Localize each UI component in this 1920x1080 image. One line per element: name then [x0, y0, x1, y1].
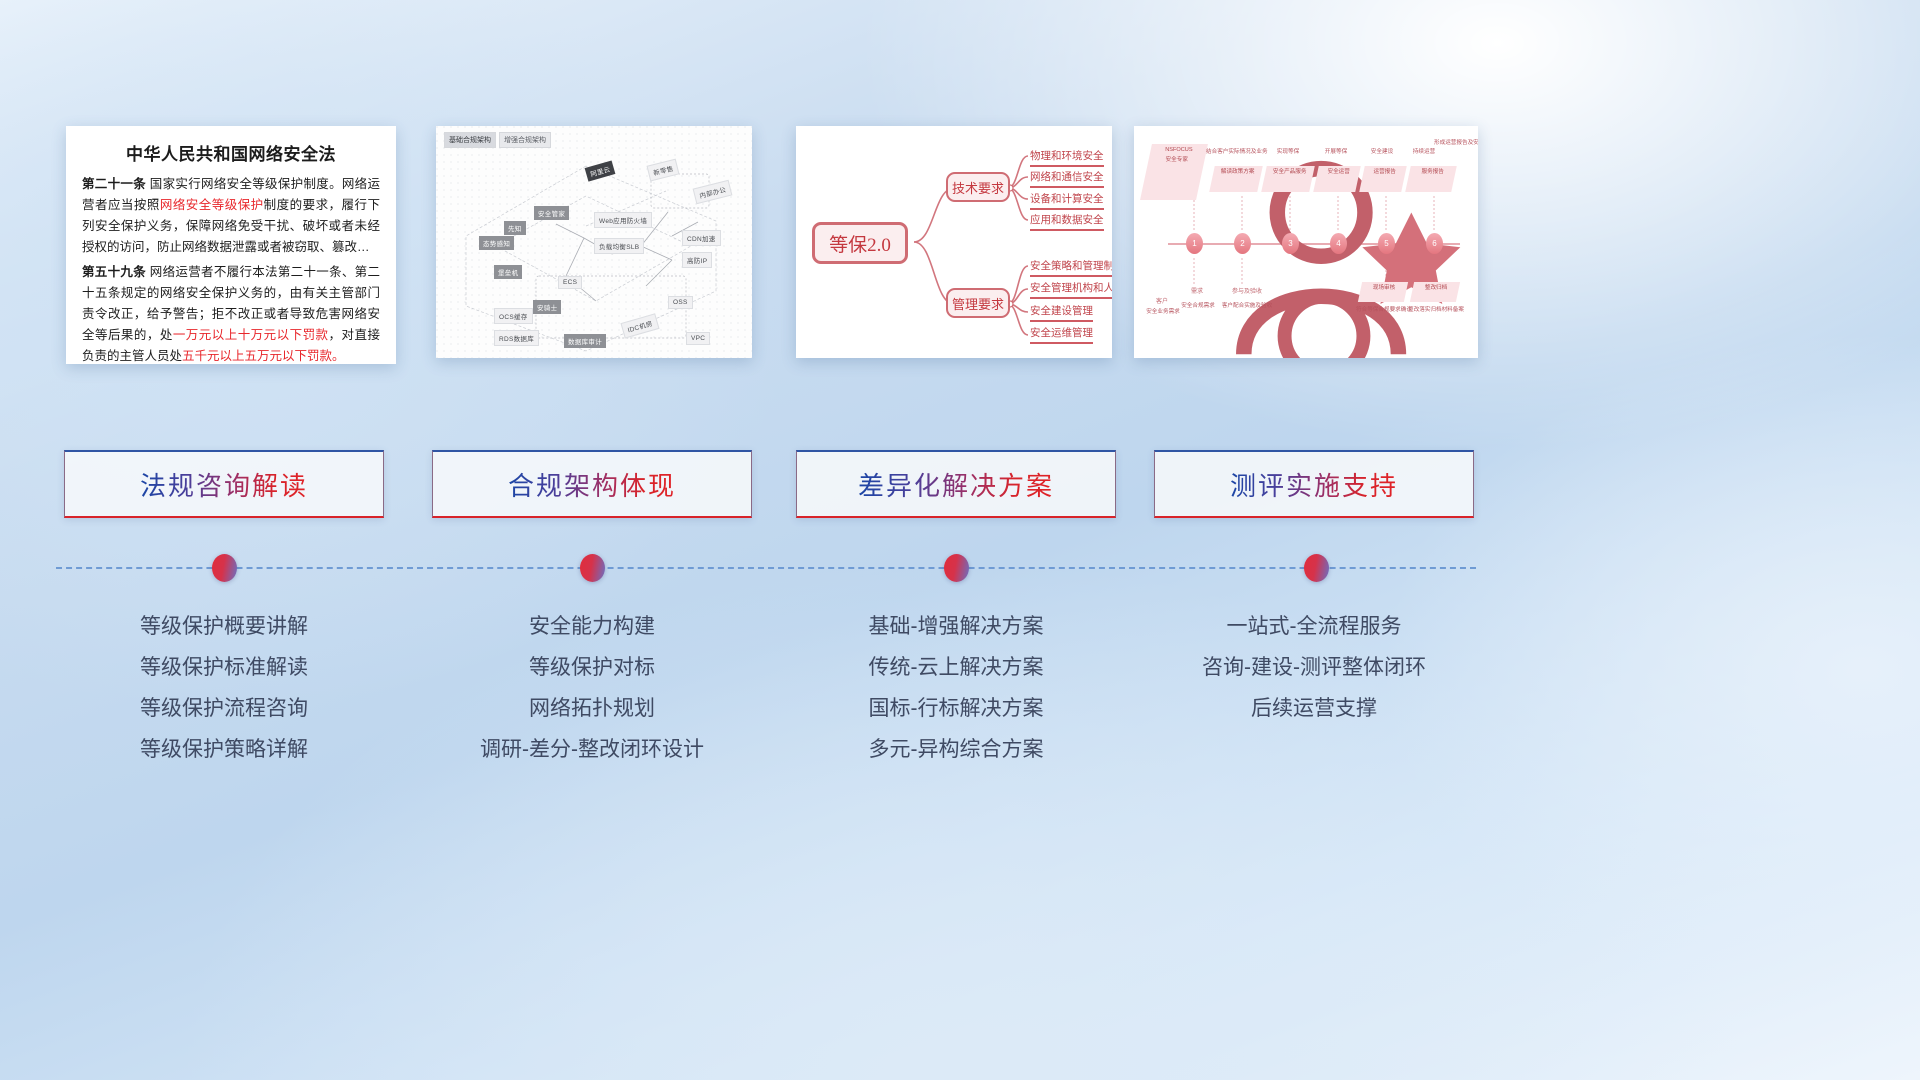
card-law-document[interactable]: 中华人民共和国网络安全法 第二十一条 国家实行网络安全等级保护制度。网络运营者应…: [66, 126, 396, 364]
timeline: [56, 567, 1476, 569]
list-item: 等级保护标准解读: [64, 647, 384, 688]
flow-chip-label: 安全产品服务: [1266, 166, 1314, 176]
list-column-regulation: 等级保护概要讲解 等级保护标准解读 等级保护流程咨询 等级保护策略详解: [64, 606, 384, 770]
top-cards-row: 中华人民共和国网络安全法 第二十一条 国家实行网络安全等级保护制度。网络运营者应…: [0, 126, 1920, 366]
article-59-highlight-1: 一万元以上十万元以下罚款: [173, 328, 329, 342]
flow-step[interactable]: 3: [1282, 233, 1299, 254]
mindmap-leaf: 设备和计算安全: [1030, 191, 1104, 210]
flow-chip: 运营报告: [1359, 166, 1407, 192]
timeline-dot[interactable]: [1304, 554, 1329, 582]
heading-box-regulation-consulting[interactable]: 法规咨询解读: [64, 450, 384, 518]
mindmap-leaf: 物理和环境安全: [1030, 148, 1104, 167]
flow-chip: 现场审核: [1358, 282, 1408, 302]
heading-label: 法规咨询解读: [140, 466, 308, 503]
flow-step[interactable]: 1: [1186, 233, 1203, 254]
list-item: 等级保护策略详解: [64, 729, 384, 770]
mindmap-root[interactable]: 等保2.0: [812, 222, 908, 264]
mindmap-canvas: 等保2.0 技术要求 管理要求 物理和环境安全 网络和通信安全 设备和计算安全 …: [796, 126, 1112, 358]
mindmap-branch-technical[interactable]: 技术要求: [946, 172, 1010, 202]
slide-canvas: 中华人民共和国网络安全法 第二十一条 国家实行网络安全等级保护制度。网络运营者应…: [0, 0, 1920, 1080]
flow-bottom-label: 需求: [1180, 288, 1214, 296]
card-architecture-diagram[interactable]: 基础合规架构 增强合规架构: [436, 126, 752, 358]
customer-label: 客户: [1144, 298, 1180, 306]
card-service-flow[interactable]: NSFOCUS 安全专家 解读政策方案 安全产品服务 安全运营 运营报告 服务报…: [1134, 126, 1478, 358]
article-59-label: 第五十九条: [82, 265, 146, 279]
heading-box-assessment-support[interactable]: 测评实施支持: [1154, 450, 1474, 518]
flow-chip-label: 安全运营: [1318, 166, 1360, 176]
flow-bottom-note: 整改落实归档材料备案: [1408, 306, 1464, 314]
flow-note: 安全建设: [1360, 148, 1404, 156]
flow-note: 结合客户实际情况及业务: [1206, 148, 1262, 156]
heading-label: 差异化解决方案: [858, 466, 1054, 503]
flow-note: 实现等保: [1266, 148, 1310, 156]
flow-chip: 解读政策方案: [1209, 166, 1263, 192]
list-item: 传统-云上解决方案: [796, 647, 1116, 688]
flow-chip-label: 解读政策方案: [1214, 166, 1262, 176]
law-title: 中华人民共和国网络安全法: [82, 140, 380, 165]
list-column-architecture: 安全能力构建 等级保护对标 网络拓扑规划 调研-差分-整改闭环设计: [432, 606, 752, 770]
heading-box-compliance-architecture[interactable]: 合规架构体现: [432, 450, 752, 518]
node-label-rds-database: RDS数据库: [494, 330, 539, 346]
list-item: 等级保护概要讲解: [64, 606, 384, 647]
node-label-situation-awareness: 态势感知: [479, 236, 514, 250]
node-label-slb: 负载均衡SLB: [594, 238, 644, 254]
flow-note: 持续运营: [1402, 148, 1446, 156]
list-item: 后续运营支撑: [1154, 688, 1474, 729]
node-label-ecs: ECS: [558, 276, 582, 289]
card-mindmap[interactable]: 等保2.0 技术要求 管理要求 物理和环境安全 网络和通信安全 设备和计算安全 …: [796, 126, 1112, 358]
node-label-oss: OSS: [668, 296, 693, 309]
flow-chip-label: 运营报告: [1364, 166, 1406, 176]
list-column-solution: 基础-增强解决方案 传统-云上解决方案 国标-行标解决方案 多元-异构综合方案: [796, 606, 1116, 770]
mindmap-leaf: 安全建设管理: [1030, 303, 1093, 322]
list-column-assessment: 一站式-全流程服务 咨询-建设-测评整体闭环 后续运营支撑: [1154, 606, 1474, 729]
mindmap-leaf: 安全管理机构和人员: [1030, 280, 1112, 299]
article-59-highlight-2: 五千元以上五万元以下罚款。: [182, 349, 345, 363]
list-item: 国标-行标解决方案: [796, 688, 1116, 729]
mindmap-leaf: 安全运维管理: [1030, 325, 1093, 344]
node-label-security-butler: 安全管家: [534, 206, 569, 220]
node-label-waf: Web应用防火墙: [594, 212, 652, 228]
flow-chip-label: 服务报告: [1410, 166, 1456, 176]
heading-label: 测评实施支持: [1230, 466, 1398, 503]
node-label-ocs-cache: OCS缓存: [494, 308, 533, 324]
article-21-highlight: 网络安全等级保护: [160, 198, 264, 212]
node-label-anqishi: 安骑士: [533, 300, 561, 314]
mindmap-leaf: 应用和数据安全: [1030, 212, 1104, 231]
flow-bottom-note: 客户配合实施及验收: [1220, 302, 1274, 310]
list-item: 网络拓扑规划: [432, 688, 752, 729]
flow-bottom-note: 符合等保合规要求确认: [1356, 306, 1410, 314]
heading-box-differentiated-solution[interactable]: 差异化解决方案: [796, 450, 1116, 518]
timeline-line: [56, 567, 1476, 569]
flow-chip: 整改归档: [1410, 282, 1460, 302]
timeline-dot[interactable]: [212, 554, 237, 582]
architecture-canvas: 基础合规架构 增强合规架构: [436, 126, 752, 358]
timeline-dot[interactable]: [580, 554, 605, 582]
flow-bottom-note: 安全合规需求: [1176, 302, 1220, 310]
list-item: 咨询-建设-测评整体闭环: [1154, 647, 1474, 688]
mindmap-leaf: 安全策略和管理制度: [1030, 258, 1112, 277]
list-item: 等级保护对标: [432, 647, 752, 688]
node-label-db-audit: 数据库审计: [564, 334, 606, 348]
article-21-label: 第二十一条: [82, 177, 146, 191]
flow-step[interactable]: 2: [1234, 233, 1251, 254]
flow-note: 形成运营报告及安全运营上报合规管理部门: [1434, 140, 1476, 147]
list-item: 调研-差分-整改闭环设计: [432, 729, 752, 770]
flow-chip: 安全产品服务: [1261, 166, 1315, 192]
flow-chip-label: 现场审核: [1361, 282, 1407, 292]
mindmap-branch-management[interactable]: 管理要求: [946, 288, 1010, 318]
flow-step[interactable]: 4: [1330, 233, 1347, 254]
node-label-anti-ddos: 高防IP: [682, 252, 712, 268]
law-article-59: 第五十九条 网络运营者不履行本法第二十一条、第二十五条规定的网络安全保护义务的，…: [82, 262, 380, 364]
list-item: 等级保护流程咨询: [64, 688, 384, 729]
flow-chip-label: 整改归档: [1413, 282, 1459, 292]
list-item: 一站式-全流程服务: [1154, 606, 1474, 647]
node-label-cdn: CDN加速: [682, 230, 721, 246]
law-article-21: 第二十一条 国家实行网络安全等级保护制度。网络运营者应当按照网络安全等级保护制度…: [82, 174, 380, 258]
mindmap-leaf: 网络和通信安全: [1030, 169, 1104, 188]
flow-step[interactable]: 5: [1378, 233, 1395, 254]
flow-bottom-label: 参与及验收: [1224, 288, 1270, 296]
list-item: 多元-异构综合方案: [796, 729, 1116, 770]
flow-chip: 安全运营: [1313, 166, 1361, 192]
service-flow-canvas: NSFOCUS 安全专家 解读政策方案 安全产品服务 安全运营 运营报告 服务报…: [1134, 126, 1478, 358]
node-label-bastion-host: 堡垒机: [494, 265, 522, 279]
flow-chip: 服务报告: [1405, 166, 1457, 192]
heading-row: 法规咨询解读 合规架构体现 差异化解决方案 测评实施支持: [0, 450, 1920, 518]
list-item: 安全能力构建: [432, 606, 752, 647]
timeline-dot[interactable]: [944, 554, 969, 582]
flow-note: 开展等保: [1314, 148, 1358, 156]
node-label-vpc: VPC: [686, 332, 710, 345]
heading-label: 合规架构体现: [508, 466, 676, 503]
flow-step[interactable]: 6: [1426, 233, 1443, 254]
node-label-xianzhi: 先知: [504, 221, 526, 235]
list-item: 基础-增强解决方案: [796, 606, 1116, 647]
